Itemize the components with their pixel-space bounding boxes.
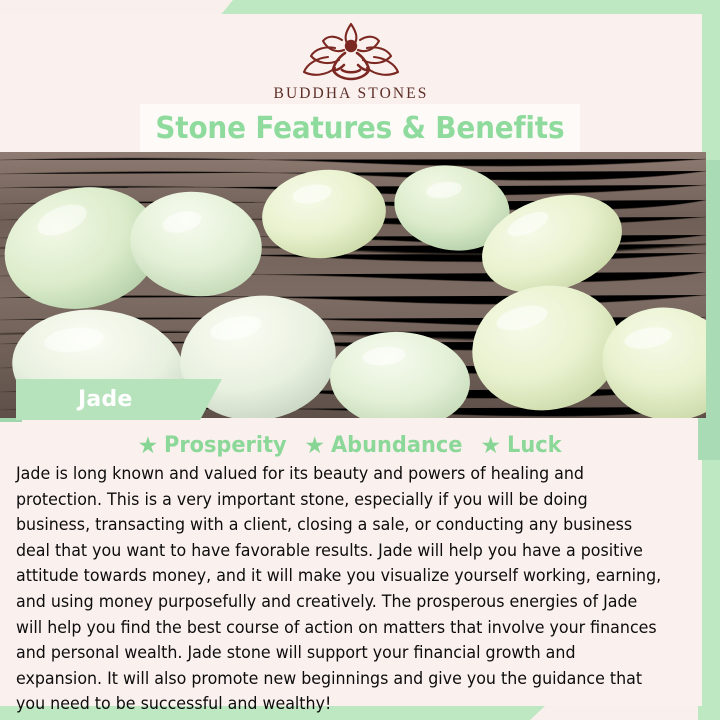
keyword-row: ★ Prosperity ★ Abundance ★ Luck bbox=[0, 430, 702, 460]
keyword-label: Luck bbox=[507, 433, 561, 458]
brand-name: BUDDHA STONES bbox=[274, 85, 429, 103]
keyword-label: Abundance bbox=[331, 433, 462, 458]
star-icon: ★ bbox=[480, 434, 501, 457]
brand-logo: BUDDHA STONES bbox=[0, 14, 702, 108]
stone-photo-illustration bbox=[0, 152, 706, 418]
keyword-luck: ★ Luck bbox=[480, 433, 564, 458]
page-title: Stone Features & Benefits bbox=[156, 111, 565, 146]
keyword-prosperity: ★ Prosperity bbox=[138, 433, 294, 458]
star-icon: ★ bbox=[304, 434, 325, 457]
lotus-meditation-icon bbox=[292, 20, 410, 84]
stone-name-badge: Jade bbox=[16, 379, 222, 420]
title-banner: Stone Features & Benefits bbox=[140, 104, 580, 152]
stone-photo bbox=[0, 152, 706, 418]
stone-name-label: Jade bbox=[78, 387, 133, 412]
stone-description: Jade is long known and valued for its be… bbox=[16, 461, 663, 717]
keyword-abundance: ★ Abundance bbox=[304, 433, 469, 458]
star-icon: ★ bbox=[138, 434, 159, 457]
keyword-label: Prosperity bbox=[164, 433, 287, 458]
